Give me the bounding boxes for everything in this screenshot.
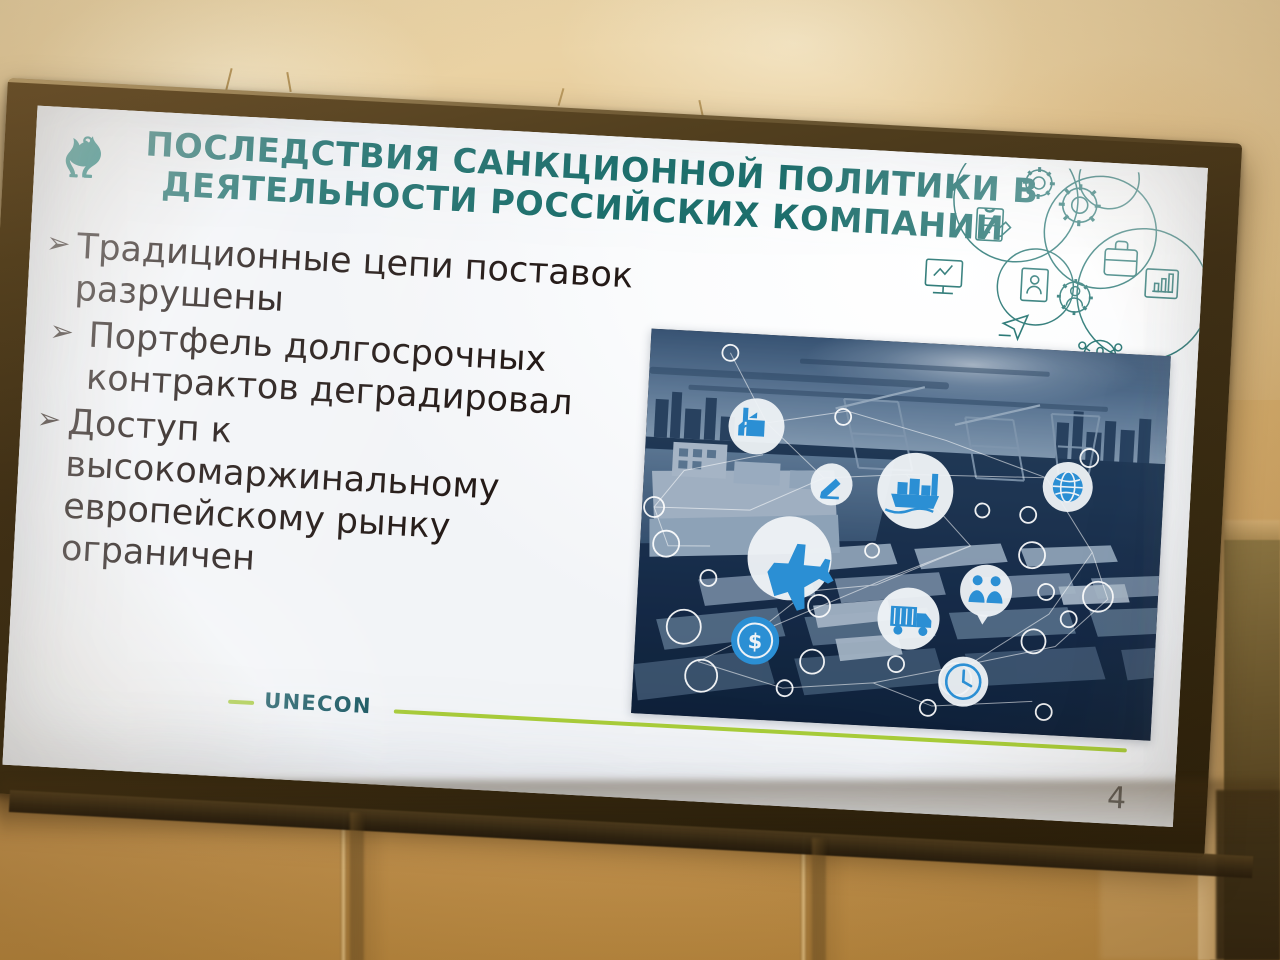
bullet-list: ➢ Традиционные цепи поставок разрушены ➢… <box>29 224 635 603</box>
bullet-arrow-icon: ➢ <box>36 400 68 439</box>
bullet-text: Доступ к высокомаржинальному европейском… <box>59 402 625 599</box>
television: ПОСЛЕДСТВИЯ САНКЦИОННОЙ ПОЛИТИКИ В ДЕЯТЕ… <box>0 78 1242 858</box>
list-item: ➢ Доступ к высокомаржинальному европейск… <box>29 400 625 599</box>
tv-mount-leg <box>812 838 826 960</box>
footer-brand: UNECON <box>264 689 373 719</box>
tv-mount-leg <box>350 812 364 960</box>
paper-plane-icon <box>999 314 1028 339</box>
bullet-arrow-icon: ➢ <box>41 312 89 352</box>
briefcase-icon <box>1104 241 1138 277</box>
container-port-logistics-network-photo: $ <box>631 329 1171 741</box>
monitor-icon <box>925 259 963 294</box>
svg-text:$: $ <box>747 629 763 654</box>
presentation-slide: ПОСЛЕДСТВИЯ САНКЦИОННОЙ ПОЛИТИКИ В ДЕЯТЕ… <box>2 106 1207 827</box>
unecon-griffin-logo <box>55 129 116 194</box>
person-gear-icon <box>1056 278 1094 316</box>
room-scene: ПОСЛЕДСТВИЯ САНКЦИОННОЙ ПОЛИТИКИ В ДЕЯТЕ… <box>0 0 1280 960</box>
gear-icon <box>1058 183 1102 227</box>
footer-dash-left <box>228 700 254 705</box>
slide-page-number: 4 <box>1106 781 1127 817</box>
bar-chart-icon <box>1145 269 1178 299</box>
tv-screen: ПОСЛЕДСТВИЯ САНКЦИОННОЙ ПОЛИТИКИ В ДЕЯТЕ… <box>2 106 1207 827</box>
document-person-icon <box>1021 268 1049 301</box>
bullet-arrow-icon: ➢ <box>45 224 77 263</box>
